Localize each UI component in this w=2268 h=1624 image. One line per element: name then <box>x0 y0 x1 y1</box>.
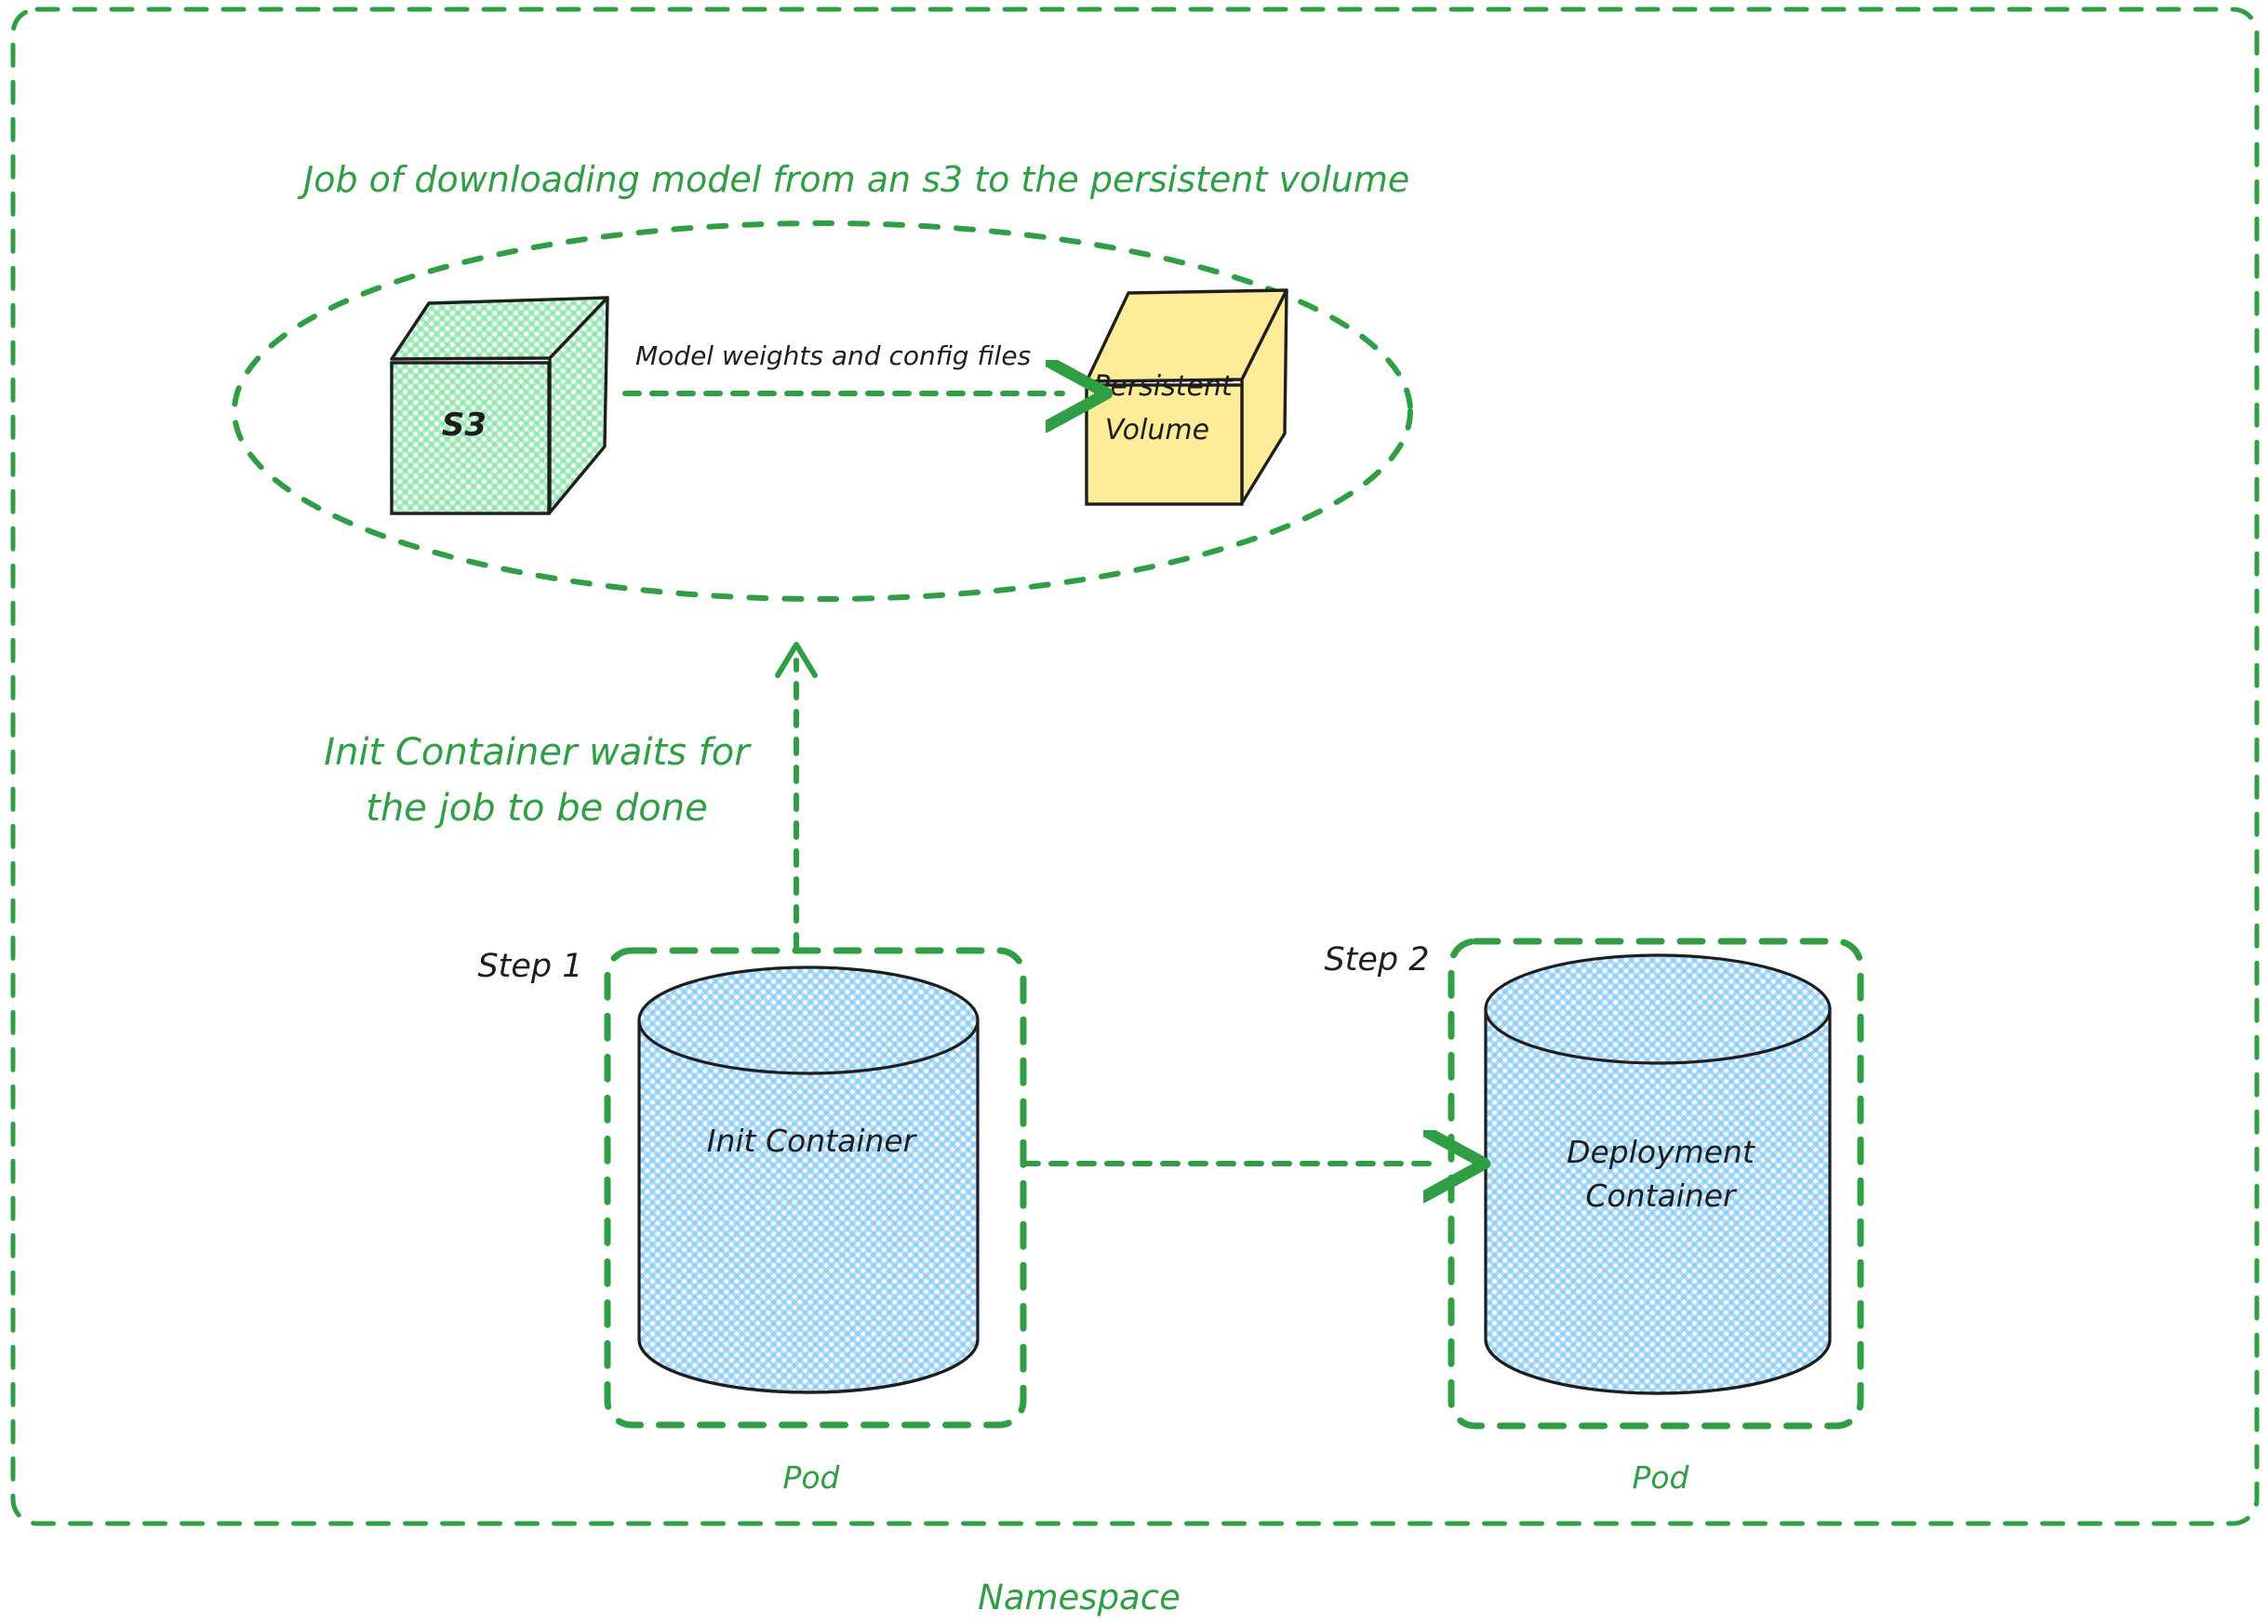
wait-arrow-label-line2: the job to be done <box>366 787 707 830</box>
transfer-arrow-label: Model weights and config files <box>635 340 1031 371</box>
init-container-label: Init Container <box>707 1123 918 1159</box>
step-1-label: Step 1 <box>477 948 582 985</box>
wait-arrow-label-line1: Init Container waits for <box>324 731 752 774</box>
deployment-container-top-ellipse <box>1486 955 1830 1063</box>
persistent-volume-cube: Persistent Volume <box>1087 290 1287 504</box>
pv-cube-label-line2: Volume <box>1105 414 1209 446</box>
init-container-top-ellipse <box>639 967 978 1073</box>
diagram-svg: S3 Persistent Volume <box>0 0 2268 1624</box>
init-container-body <box>639 1020 978 1392</box>
diagram-scene: S3 Persistent Volume <box>0 0 2268 1624</box>
s3-cube: S3 <box>392 298 607 513</box>
init-container-cylinder: Init Container <box>639 967 978 1392</box>
deployment-container-label-line1: Deployment <box>1567 1134 1755 1170</box>
deployment-container-cylinder: Deployment Container <box>1486 955 1830 1393</box>
diagram-canvas: S3 Persistent Volume <box>0 0 2268 1624</box>
deployment-container-label-line2: Container <box>1585 1178 1738 1214</box>
namespace-label: Namespace <box>978 1577 1181 1617</box>
step-2-label: Step 2 <box>1324 941 1429 978</box>
pod-1-label: Pod <box>782 1459 840 1496</box>
pod-2-label: Pod <box>1632 1459 1689 1496</box>
pv-cube-label-line1: Persistent <box>1093 370 1234 403</box>
job-caption: Job of downloading model from an s3 to t… <box>297 159 1409 200</box>
s3-cube-label: S3 <box>442 406 487 444</box>
